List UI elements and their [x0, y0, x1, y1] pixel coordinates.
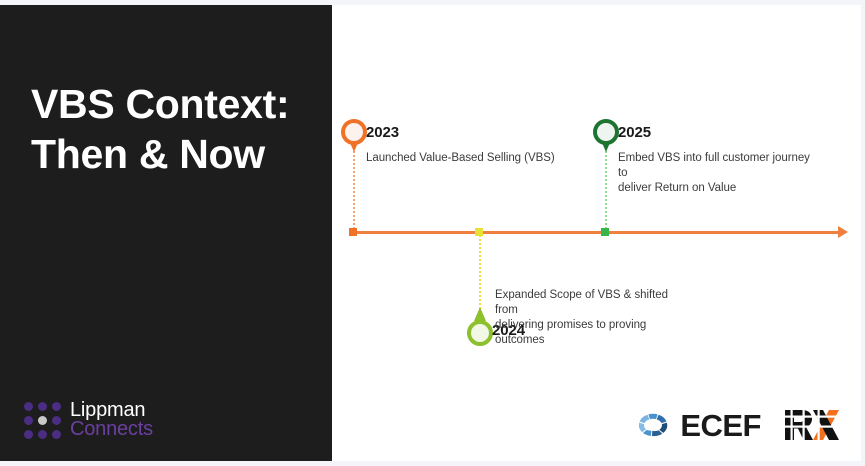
map-pin-icon-2025[interactable]	[593, 119, 619, 152]
arrow-right-icon	[838, 226, 848, 238]
logo-dot	[24, 402, 33, 411]
timeline-node-2023[interactable]	[349, 228, 357, 236]
pin-tail	[474, 307, 486, 321]
logo-dot	[52, 430, 61, 439]
rx-logo	[783, 408, 841, 442]
slide-bottom-edge	[0, 461, 865, 466]
segmented-ring-icon	[629, 409, 677, 441]
milestone-year-2025: 2025	[618, 124, 651, 141]
logo-dot-highlight	[38, 416, 47, 425]
map-pin-icon-2024[interactable]	[467, 313, 493, 346]
timeline-stem-2023	[353, 140, 355, 232]
slide-canvas: VBS Context: Then & Now Lippman Connects	[0, 0, 865, 466]
logo-dot	[38, 402, 47, 411]
lippman-connects-logo: Lippman Connects	[24, 401, 153, 439]
logo-dot	[24, 416, 33, 425]
pin-head	[341, 119, 367, 145]
logo-dot	[52, 416, 61, 425]
timeline-stem-2025	[605, 140, 607, 232]
dot-grid-icon	[24, 402, 61, 439]
slide-right-edge	[861, 0, 865, 466]
map-pin-icon-2023[interactable]	[341, 119, 367, 152]
milestone-description-2023: Launched Value-Based Selling (VBS)	[366, 151, 566, 166]
timeline-node-2025[interactable]	[601, 228, 609, 236]
lippman-word-secondary: Connects	[70, 420, 153, 439]
timeline-axis	[353, 231, 842, 234]
logo-dot	[24, 430, 33, 439]
ecef-logo: ECEF	[629, 409, 761, 441]
timeline-node-2024[interactable]	[475, 228, 483, 236]
logo-dot	[52, 402, 61, 411]
pin-head	[593, 119, 619, 145]
brand-logo-row: ECEF	[629, 408, 841, 442]
milestone-description-2024: Expanded Scope of VBS & shifted from del…	[495, 288, 690, 348]
ecef-wordmark: ECEF	[680, 410, 761, 441]
title-panel: VBS Context: Then & Now Lippman Connects	[0, 5, 332, 461]
logo-dot	[38, 430, 47, 439]
page-title: VBS Context: Then & Now	[31, 79, 311, 179]
milestone-description-2025: Embed VBS into full customer journey to …	[618, 151, 813, 196]
milestone-year-2023: 2023	[366, 124, 399, 141]
pin-head	[467, 320, 493, 346]
lippman-wordmark: Lippman Connects	[70, 401, 153, 439]
